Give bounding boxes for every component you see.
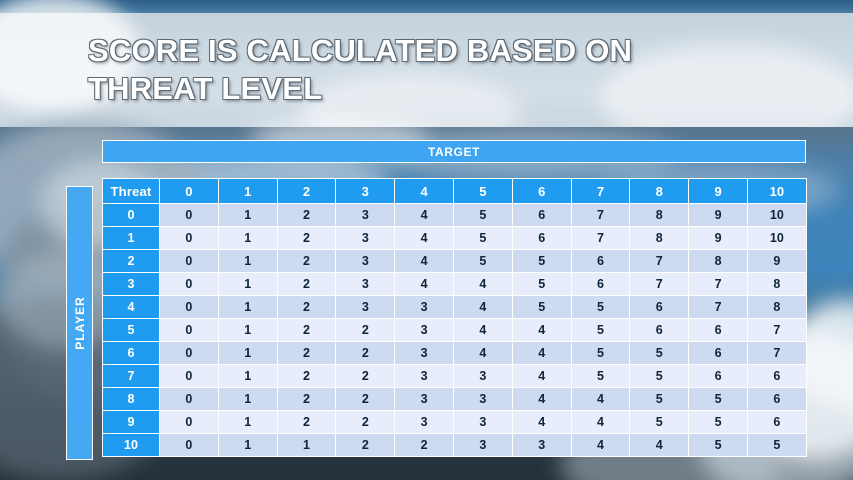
column-header-8: 8 xyxy=(630,179,689,204)
score-cell: 1 xyxy=(277,434,336,457)
score-cell: 2 xyxy=(277,388,336,411)
score-cell: 2 xyxy=(336,319,395,342)
score-cell: 4 xyxy=(395,227,454,250)
table-row: 1012345678910 xyxy=(103,227,807,250)
score-cell: 8 xyxy=(747,296,806,319)
column-header-5: 5 xyxy=(453,179,512,204)
page-title: Score is calculated based on threat leve… xyxy=(88,32,708,108)
row-header-5: 5 xyxy=(103,319,160,342)
score-cell: 3 xyxy=(395,365,454,388)
score-cell: 3 xyxy=(336,296,395,319)
score-cell: 2 xyxy=(277,411,336,434)
score-cell: 7 xyxy=(630,250,689,273)
score-cell: 5 xyxy=(512,296,571,319)
score-cell: 0 xyxy=(160,227,219,250)
table-row: 601223445567 xyxy=(103,342,807,365)
score-cell: 2 xyxy=(277,250,336,273)
row-header-2: 2 xyxy=(103,250,160,273)
column-header-7: 7 xyxy=(571,179,630,204)
score-cell: 2 xyxy=(277,296,336,319)
score-cell: 5 xyxy=(571,319,630,342)
score-cell: 3 xyxy=(512,434,571,457)
score-cell: 7 xyxy=(630,273,689,296)
score-cell: 1 xyxy=(218,319,277,342)
column-header-3: 3 xyxy=(336,179,395,204)
score-cell: 3 xyxy=(395,388,454,411)
score-cell: 8 xyxy=(630,227,689,250)
score-cell: 1 xyxy=(218,365,277,388)
score-cell: 6 xyxy=(689,319,748,342)
score-cell: 3 xyxy=(453,411,512,434)
score-cell: 4 xyxy=(630,434,689,457)
row-header-0: 0 xyxy=(103,204,160,227)
score-cell: 6 xyxy=(689,365,748,388)
target-axis-label-text: TARGET xyxy=(428,145,480,159)
score-cell: 0 xyxy=(160,296,219,319)
row-header-10: 10 xyxy=(103,434,160,457)
column-header-9: 9 xyxy=(689,179,748,204)
score-cell: 1 xyxy=(218,204,277,227)
score-cell: 1 xyxy=(218,411,277,434)
score-cell: 2 xyxy=(277,342,336,365)
score-cell: 8 xyxy=(747,273,806,296)
score-cell: 7 xyxy=(571,227,630,250)
score-cell: 5 xyxy=(747,434,806,457)
score-cell: 4 xyxy=(512,388,571,411)
row-header-8: 8 xyxy=(103,388,160,411)
score-cell: 3 xyxy=(336,250,395,273)
score-cell: 4 xyxy=(453,273,512,296)
score-cell: 4 xyxy=(512,365,571,388)
score-cell: 3 xyxy=(453,434,512,457)
score-cell: 2 xyxy=(336,342,395,365)
score-cell: 1 xyxy=(218,342,277,365)
table-header-row: Threat 012345678910 xyxy=(103,179,807,204)
score-cell: 2 xyxy=(336,411,395,434)
column-header-6: 6 xyxy=(512,179,571,204)
score-cell: 3 xyxy=(453,365,512,388)
score-cell: 4 xyxy=(512,319,571,342)
score-cell: 2 xyxy=(277,227,336,250)
score-cell: 0 xyxy=(160,388,219,411)
score-cell: 9 xyxy=(747,250,806,273)
score-cell: 10 xyxy=(747,227,806,250)
matrix-header: Threat 012345678910 xyxy=(103,179,807,204)
score-cell: 2 xyxy=(336,388,395,411)
score-cell: 6 xyxy=(512,227,571,250)
table-row: 701223345566 xyxy=(103,365,807,388)
score-cell: 4 xyxy=(453,319,512,342)
score-matrix-table: Threat 012345678910 00123456789101012345… xyxy=(102,178,807,457)
row-header-1: 1 xyxy=(103,227,160,250)
player-axis-label-text: PLAYER xyxy=(73,296,87,350)
score-cell: 1 xyxy=(218,227,277,250)
column-header-0: 0 xyxy=(160,179,219,204)
score-cell: 3 xyxy=(395,296,454,319)
score-cell: 5 xyxy=(571,365,630,388)
score-cell: 4 xyxy=(571,388,630,411)
score-cell: 2 xyxy=(336,434,395,457)
score-cell: 5 xyxy=(512,273,571,296)
table-row: 901223344556 xyxy=(103,411,807,434)
score-cell: 3 xyxy=(453,388,512,411)
score-cell: 6 xyxy=(747,388,806,411)
score-cell: 4 xyxy=(395,204,454,227)
score-cell: 7 xyxy=(689,273,748,296)
score-cell: 1 xyxy=(218,250,277,273)
score-cell: 0 xyxy=(160,204,219,227)
score-cell: 1 xyxy=(218,388,277,411)
table-row: 0012345678910 xyxy=(103,204,807,227)
table-row: 201234556789 xyxy=(103,250,807,273)
row-header-7: 7 xyxy=(103,365,160,388)
score-cell: 1 xyxy=(218,434,277,457)
score-cell: 4 xyxy=(453,296,512,319)
score-cell: 6 xyxy=(571,273,630,296)
score-cell: 8 xyxy=(630,204,689,227)
score-cell: 5 xyxy=(453,204,512,227)
score-cell: 2 xyxy=(277,319,336,342)
score-cell: 9 xyxy=(689,204,748,227)
score-cell: 10 xyxy=(747,204,806,227)
score-cell: 5 xyxy=(630,342,689,365)
score-cell: 4 xyxy=(512,411,571,434)
score-cell: 5 xyxy=(571,342,630,365)
score-cell: 0 xyxy=(160,365,219,388)
score-cell: 5 xyxy=(630,365,689,388)
row-header-6: 6 xyxy=(103,342,160,365)
score-cell: 5 xyxy=(630,388,689,411)
score-cell: 2 xyxy=(277,273,336,296)
corner-header-cell: Threat xyxy=(103,179,160,204)
score-cell: 5 xyxy=(453,250,512,273)
score-cell: 0 xyxy=(160,250,219,273)
table-row: 1001122334455 xyxy=(103,434,807,457)
score-cell: 4 xyxy=(571,411,630,434)
player-axis-label: PLAYER xyxy=(66,186,93,460)
score-cell: 7 xyxy=(571,204,630,227)
score-cell: 2 xyxy=(395,434,454,457)
score-cell: 3 xyxy=(336,273,395,296)
score-cell: 3 xyxy=(395,342,454,365)
score-cell: 3 xyxy=(395,411,454,434)
score-cell: 4 xyxy=(571,434,630,457)
column-header-4: 4 xyxy=(395,179,454,204)
score-cell: 0 xyxy=(160,434,219,457)
score-cell: 7 xyxy=(747,319,806,342)
score-cell: 5 xyxy=(571,296,630,319)
score-cell: 7 xyxy=(689,296,748,319)
table-row: 401233455678 xyxy=(103,296,807,319)
score-cell: 2 xyxy=(277,365,336,388)
score-cell: 6 xyxy=(747,411,806,434)
slide-canvas: Score is calculated based on threat leve… xyxy=(0,0,853,480)
score-cell: 3 xyxy=(395,319,454,342)
score-cell: 5 xyxy=(453,227,512,250)
table-row: 501223445667 xyxy=(103,319,807,342)
score-cell: 4 xyxy=(395,250,454,273)
score-cell: 6 xyxy=(512,204,571,227)
score-cell: 5 xyxy=(689,434,748,457)
score-cell: 7 xyxy=(747,342,806,365)
table-row: 301234456778 xyxy=(103,273,807,296)
score-cell: 6 xyxy=(571,250,630,273)
score-cell: 6 xyxy=(747,365,806,388)
table-row: 801223344556 xyxy=(103,388,807,411)
score-cell: 4 xyxy=(512,342,571,365)
score-cell: 5 xyxy=(689,388,748,411)
sky-top-band xyxy=(0,0,853,13)
score-cell: 0 xyxy=(160,319,219,342)
score-cell: 8 xyxy=(689,250,748,273)
score-cell: 6 xyxy=(630,296,689,319)
score-cell: 0 xyxy=(160,411,219,434)
score-cell: 0 xyxy=(160,342,219,365)
score-cell: 6 xyxy=(630,319,689,342)
score-cell: 3 xyxy=(336,227,395,250)
row-header-9: 9 xyxy=(103,411,160,434)
score-cell: 2 xyxy=(277,204,336,227)
score-cell: 4 xyxy=(395,273,454,296)
score-cell: 1 xyxy=(218,296,277,319)
score-cell: 5 xyxy=(630,411,689,434)
matrix-body: 0012345678910101234567891020123455678930… xyxy=(103,204,807,457)
target-axis-label: TARGET xyxy=(102,140,806,163)
column-header-1: 1 xyxy=(218,179,277,204)
score-cell: 9 xyxy=(689,227,748,250)
column-header-2: 2 xyxy=(277,179,336,204)
column-header-10: 10 xyxy=(747,179,806,204)
score-cell: 5 xyxy=(512,250,571,273)
score-cell: 1 xyxy=(218,273,277,296)
score-cell: 6 xyxy=(689,342,748,365)
score-cell: 0 xyxy=(160,273,219,296)
row-header-3: 3 xyxy=(103,273,160,296)
row-header-4: 4 xyxy=(103,296,160,319)
score-cell: 4 xyxy=(453,342,512,365)
score-cell: 5 xyxy=(689,411,748,434)
score-cell: 2 xyxy=(336,365,395,388)
score-cell: 3 xyxy=(336,204,395,227)
